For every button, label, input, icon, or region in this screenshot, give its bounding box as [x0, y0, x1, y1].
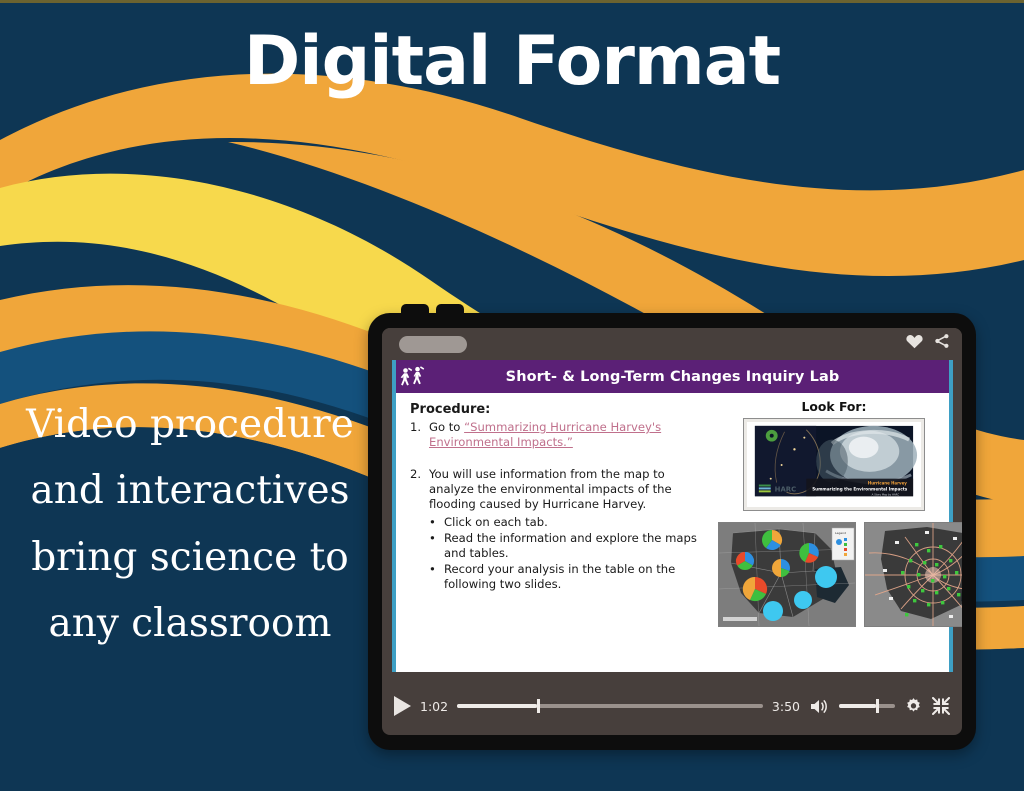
top-rule-divider — [0, 0, 1024, 3]
slide-header: Short- & Long-Term Changes Inquiry Lab — [396, 360, 949, 393]
pie-chart-map-thumbnail[interactable]: Legend — [718, 522, 856, 627]
procedure-block: Procedure: 1. Go to “Summarizing Hurrica… — [410, 402, 706, 596]
gear-icon[interactable] — [904, 697, 923, 716]
bullet-dot-icon: • — [429, 515, 438, 530]
page-title: Digital Format — [0, 26, 1024, 97]
map-thumbnail-row: Legend — [718, 522, 962, 627]
progress-fill — [457, 704, 537, 708]
procedure-heading: Procedure: — [410, 402, 706, 419]
svg-text:Legend: Legend — [835, 531, 846, 535]
bullet-text: Click on each tab. — [444, 515, 548, 530]
total-time: 3:50 — [772, 699, 800, 714]
player-controls: 1:02 3:50 — [382, 689, 962, 723]
current-time: 1:02 — [420, 699, 448, 714]
step-2-bullets: •Click on each tab. •Read the informatio… — [429, 515, 706, 592]
look-for-block: Look For: — [718, 399, 950, 511]
player-screen: Short- & Long-Term Changes Inquiry Lab P… — [382, 328, 962, 735]
procedure-step-1: 1. Go to “Summarizing Hurricane Harvey's… — [410, 420, 706, 450]
list-item: •Read the information and explore the ma… — [429, 531, 706, 561]
bullet-dot-icon: • — [429, 562, 438, 592]
two-figures-logo-icon — [398, 363, 428, 390]
look-for-heading: Look For: — [718, 399, 950, 414]
step-2-lead: You will use information from the map to… — [429, 467, 672, 511]
volume-slider[interactable] — [839, 704, 895, 708]
slide-title: Short- & Long-Term Changes Inquiry Lab — [396, 369, 949, 385]
lesson-slide: Short- & Long-Term Changes Inquiry Lab P… — [392, 360, 953, 672]
caption-text: Video procedure and interactives bring s… — [14, 392, 366, 657]
device-button-top-2 — [436, 304, 464, 316]
share-icon[interactable] — [934, 333, 950, 349]
svg-text:Summarizing the Environmental: Summarizing the Environmental Impacts — [812, 486, 908, 491]
road-map-markers-thumbnail[interactable]: + - i — [864, 522, 962, 627]
progress-handle[interactable] — [537, 699, 540, 713]
list-item: •Click on each tab. — [429, 515, 706, 530]
svg-text:Hurricane Harvey: Hurricane Harvey — [868, 481, 907, 486]
procedure-step-2: 2. You will use information from the map… — [410, 467, 706, 594]
bullet-text: Read the information and explore the map… — [444, 531, 706, 561]
list-item: •Record your analysis in the table on th… — [429, 562, 706, 592]
step-1-lead: Go to — [429, 420, 464, 434]
svg-text:HARC: HARC — [775, 485, 797, 493]
volume-icon[interactable] — [809, 698, 830, 715]
player-top-bar — [382, 328, 962, 360]
hurricane-satellite-thumbnail[interactable]: Hurricane Harvey Summarizing the Environ… — [743, 418, 925, 511]
story-map-link[interactable]: “Summarizing Hurricane Harvey's Environm… — [429, 420, 661, 449]
step-1-number: 1. — [410, 420, 423, 450]
play-icon[interactable] — [394, 696, 411, 716]
volume-fill — [839, 704, 876, 708]
step-2-number: 2. — [410, 467, 423, 594]
slide-canvas: Digital Format Video procedure and inter… — [0, 0, 1024, 791]
svg-text:A Story Map by HARC: A Story Map by HARC — [872, 492, 900, 496]
collapse-fullscreen-icon[interactable] — [932, 697, 950, 715]
progress-slider[interactable] — [457, 704, 763, 708]
device-button-top-1 — [401, 304, 429, 316]
heart-icon[interactable] — [906, 334, 923, 349]
procedure-spacer — [410, 452, 706, 465]
slide-body: Procedure: 1. Go to “Summarizing Hurrica… — [396, 393, 949, 672]
player-title-placeholder — [399, 336, 467, 353]
volume-handle[interactable] — [876, 699, 879, 713]
bullet-dot-icon: • — [429, 531, 438, 561]
bullet-text: Record your analysis in the table on the… — [444, 562, 706, 592]
video-player[interactable]: Short- & Long-Term Changes Inquiry Lab P… — [368, 313, 976, 750]
